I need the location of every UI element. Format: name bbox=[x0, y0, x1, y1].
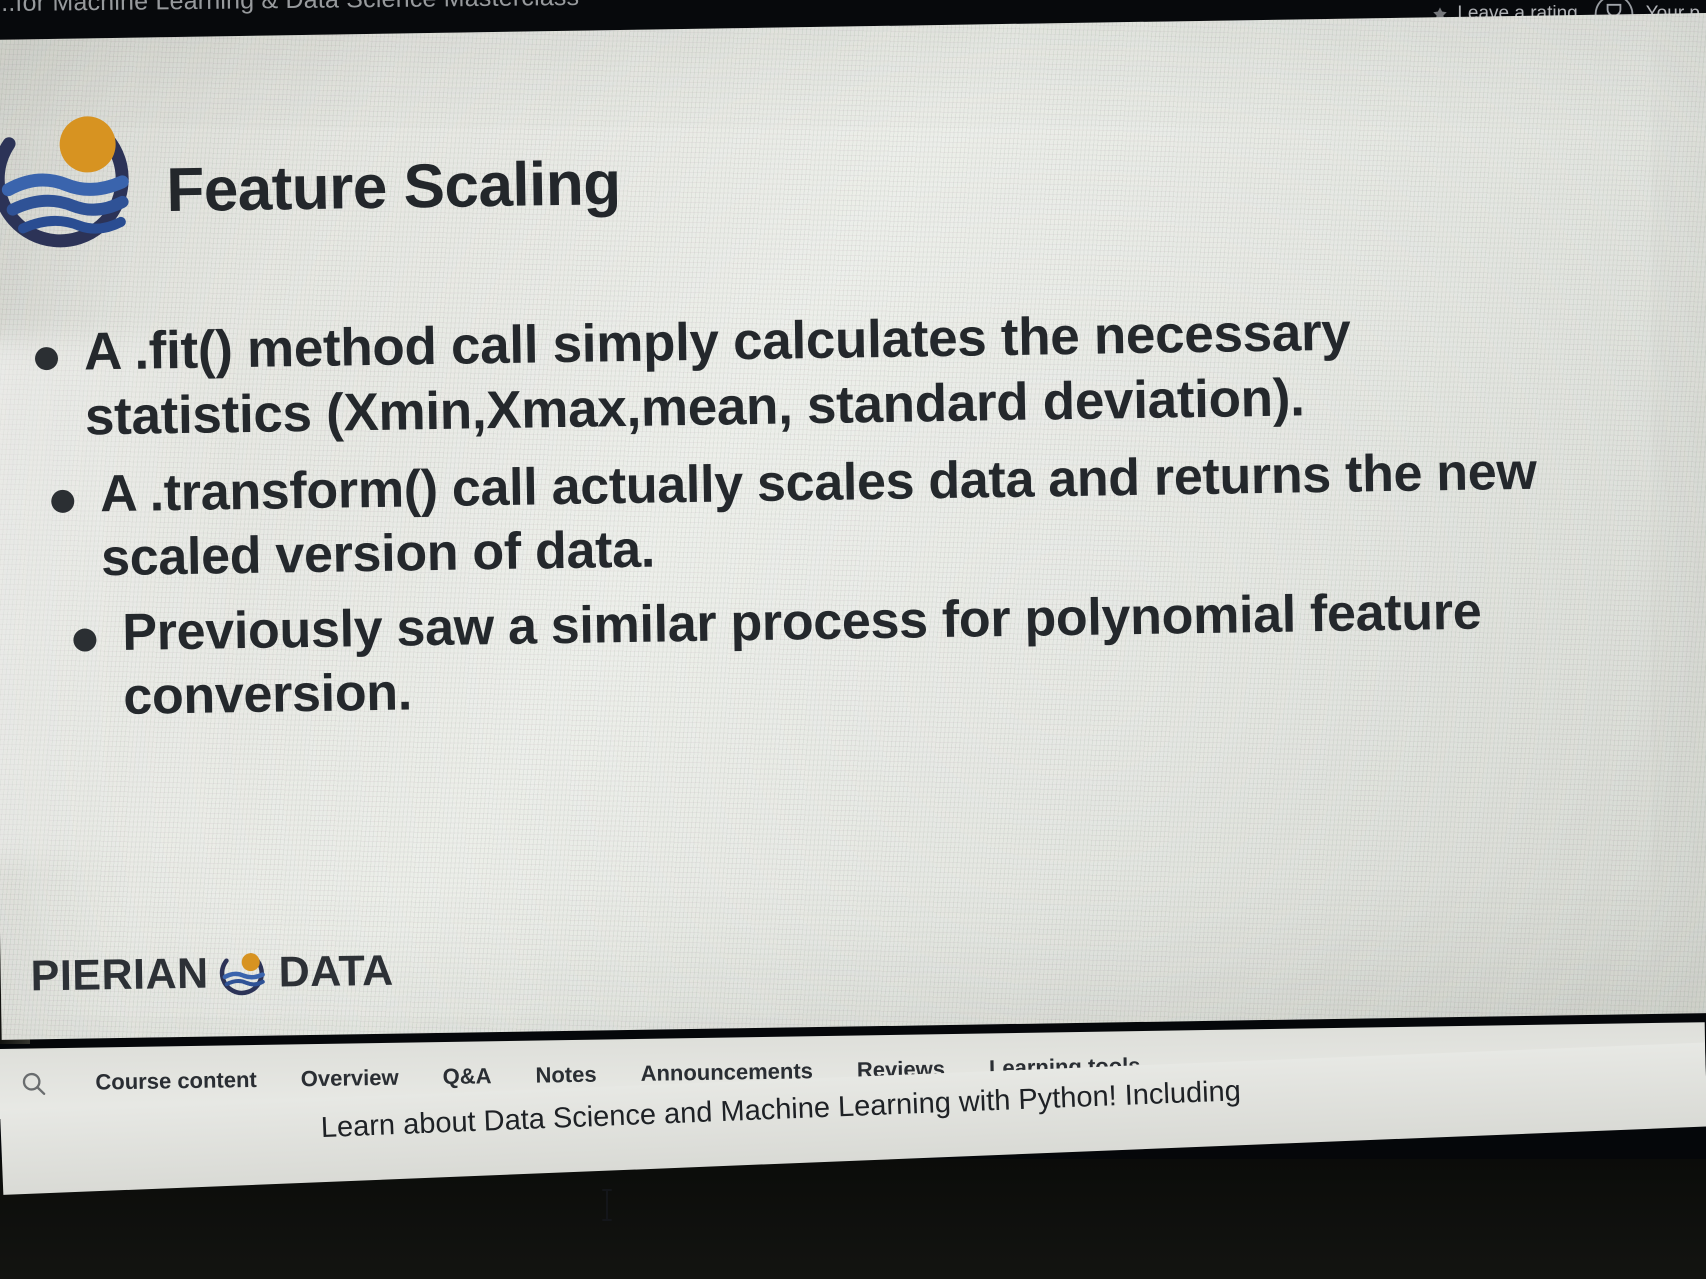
brand-word-right: DATA bbox=[278, 946, 394, 997]
list-item: A .fit() method call simply calculates t… bbox=[34, 297, 1576, 450]
list-item: Previously saw a similar process for pol… bbox=[73, 579, 1581, 730]
brand-word-left: PIERIAN bbox=[30, 949, 209, 1001]
bullet-text: A .transform() call actually scales data… bbox=[100, 440, 1579, 590]
bullet-dot-icon bbox=[73, 629, 96, 652]
list-item: A .transform() call actually scales data… bbox=[51, 440, 1579, 591]
screen-photo: ...for Machine Learning & Data Science M… bbox=[0, 0, 1706, 1279]
course-title-text: ...for Machine Learning & Data Science M… bbox=[0, 0, 579, 18]
pierian-data-mark-icon bbox=[216, 946, 271, 1001]
bullet-dot-icon bbox=[51, 490, 74, 513]
slide-bullet-list: A .fit() method call simply calculates t… bbox=[34, 297, 1580, 736]
slide-content: Feature Scaling A .fit() method call sim… bbox=[0, 13, 1706, 1040]
slide-footer-brand: PIERIAN DATA bbox=[30, 944, 394, 1004]
bullet-text: Previously saw a similar process for pol… bbox=[122, 579, 1581, 729]
pierian-data-logo-icon bbox=[0, 95, 159, 258]
search-icon[interactable] bbox=[19, 1069, 47, 1097]
presentation-slide: Feature Scaling A .fit() method call sim… bbox=[0, 13, 1706, 1040]
bullet-dot-icon bbox=[35, 347, 58, 370]
bullet-text: A .fit() method call simply calculates t… bbox=[83, 297, 1576, 450]
slide-title: Feature Scaling bbox=[166, 148, 621, 226]
